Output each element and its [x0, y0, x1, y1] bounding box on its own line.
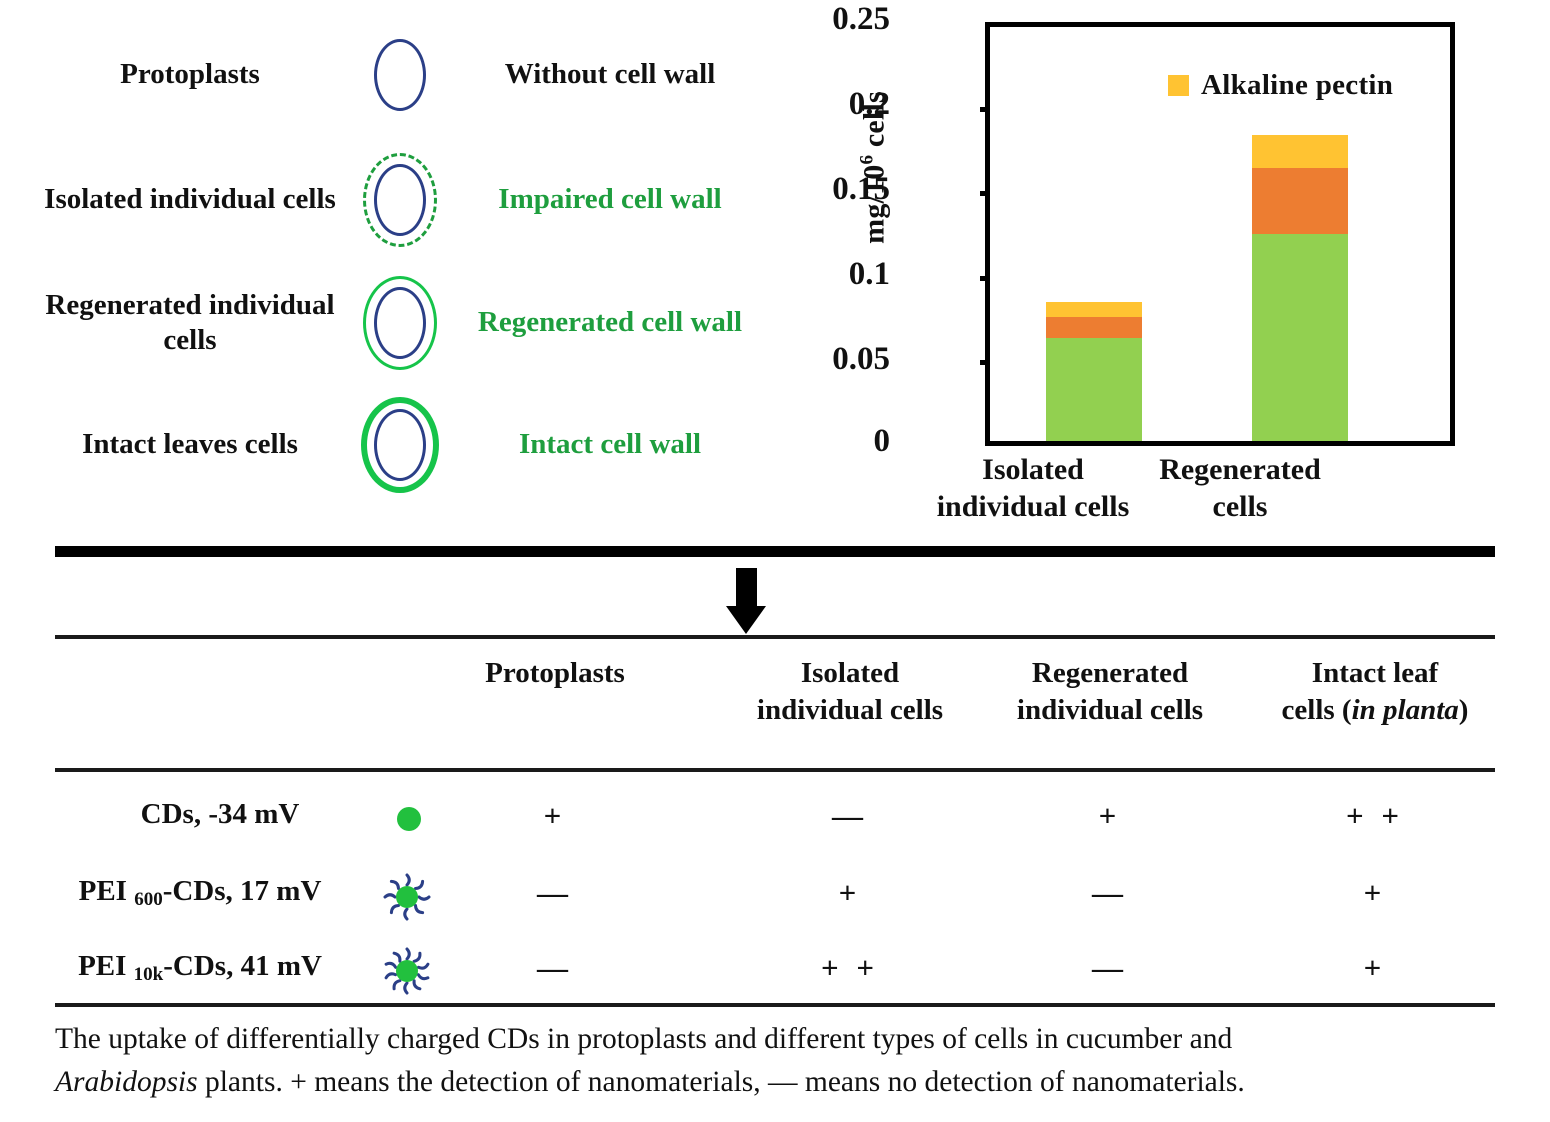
legend-row-description: Impaired cell wall [465, 145, 755, 255]
legend-row-protoplasts: Protoplasts Without cell wall [0, 20, 790, 130]
intact-wall-cell-icon [345, 390, 455, 500]
y-tick-label-0.05: 0.05 [780, 341, 890, 378]
table-cell-pei600-protoplasts: — [430, 875, 680, 911]
header-line1: Intact leaf [1312, 657, 1438, 689]
y-tick-label-0: 0 [780, 423, 890, 460]
table-cell-pei10k-regenerated: — [985, 950, 1235, 986]
table-row-label-pei10k-cds: PEI 10k-CDs, 41 mV [35, 950, 365, 983]
pei600-cd-nanoparticle-icon [378, 871, 438, 923]
table-cell-pei600-regenerated: — [985, 875, 1235, 911]
header-line1: Protoplasts [485, 657, 625, 689]
table-top-rule [55, 635, 1495, 639]
plasma-membrane-ellipse [374, 164, 426, 236]
header-line1: Regenerated [1032, 657, 1188, 689]
table-header-regenerated-individual-cells: Regenerated individual cells [985, 655, 1235, 728]
header-line2-plain: cells ( [1282, 694, 1352, 726]
legend-row-label: Protoplasts [40, 20, 340, 130]
y-tick-label-0.15: 0.15 [780, 171, 890, 208]
x-category-line1: Isolated [982, 453, 1084, 486]
table-cell-pei600-intact-leaf: + [1250, 875, 1500, 911]
bar-segment-green [1252, 234, 1348, 441]
table-cell-pei10k-protoplasts: — [430, 950, 680, 986]
table-cell-cds-intact-leaf: + + [1250, 798, 1500, 834]
chart-plot-area: Alkaline pectin [985, 22, 1455, 446]
x-category-line1: Regenerated [1159, 453, 1321, 486]
table-header-intact-leaf-cells: Intact leaf cells (in planta) [1250, 655, 1500, 728]
header-line2-italic: in planta [1352, 694, 1459, 726]
section-divider-thick-rule [55, 546, 1495, 557]
legend-row-description: Intact cell wall [465, 390, 755, 500]
table-cell-pei10k-intact-leaf: + [1250, 950, 1500, 986]
plasma-membrane-ellipse [374, 409, 426, 481]
table-bottom-rule [55, 1003, 1495, 1007]
table-cell-pei600-isolated: + [725, 875, 975, 911]
figure-caption: The uptake of differentially charged CDs… [55, 1018, 1500, 1104]
legend-row-label: Regenerated individual cells [40, 268, 340, 378]
table-cell-cds-isolated: — [725, 798, 975, 834]
header-line2-post: ) [1459, 694, 1469, 726]
x-category-line2: cells [1213, 490, 1268, 523]
pectin-content-bar-chart: mg/106 cells 0.25 0.2 0.15 0.1 0.05 0 Al… [830, 0, 1550, 540]
bar-regenerated-cells [1252, 135, 1348, 441]
caption-line1: The uptake of differentially charged CDs… [55, 1023, 1232, 1055]
table-row-label-cds: CDs, -34 mV [55, 798, 385, 831]
y-tick-label-0.25: 0.25 [780, 1, 890, 38]
legend-row-intact-leaves-cells: Intact leaves cells Intact cell wall [0, 390, 790, 500]
uptake-summary-table: Protoplasts Isolated individual cells Re… [0, 635, 1550, 1015]
table-cell-cds-protoplasts: + [430, 798, 680, 834]
pei10k-cd-nanoparticle-icon [378, 945, 438, 997]
table-header-rule [55, 768, 1495, 772]
cell-type-legend-panel: Protoplasts Without cell wall Isolated i… [0, 0, 800, 520]
figure-canvas: Protoplasts Without cell wall Isolated i… [0, 0, 1550, 1122]
legend-row-description: Without cell wall [465, 20, 755, 130]
table-cell-cds-regenerated: + [985, 798, 1235, 834]
impaired-wall-cell-icon [345, 145, 455, 255]
legend-row-label: Isolated individual cells [40, 145, 340, 255]
regenerated-wall-cell-icon [345, 268, 455, 378]
bar-segment-orange [1046, 317, 1142, 339]
y-tick-label-0.2: 0.2 [780, 86, 890, 123]
table-header-isolated-individual-cells: Isolated individual cells [725, 655, 975, 728]
alkaline-pectin-legend-label: Alkaline pectin [1201, 69, 1393, 102]
table-header-protoplasts: Protoplasts [430, 655, 680, 692]
x-category-regenerated-cells: Regenerated cells [1115, 452, 1365, 525]
plasma-membrane-ellipse [374, 287, 426, 359]
protoplast-cell-icon [345, 20, 455, 130]
table-row-label-pei600-cds: PEI 600-CDs, 17 mV [35, 875, 365, 908]
bar-segment-alkaline-pectin [1252, 135, 1348, 168]
x-category-line2: individual cells [937, 490, 1130, 523]
header-line2: individual cells [1017, 694, 1203, 726]
y-tick-label-0.1: 0.1 [780, 256, 890, 293]
legend-row-regenerated-individual-cells: Regenerated individual cells Regenerated… [0, 268, 790, 378]
bar-segment-alkaline-pectin [1046, 302, 1142, 317]
bar-segment-green [1046, 338, 1142, 441]
bar-isolated-individual-cells [1046, 302, 1142, 441]
legend-row-isolated-individual-cells: Isolated individual cells Impaired cell … [0, 145, 790, 255]
caption-species-italic: Arabidopsis [55, 1066, 198, 1098]
y-axis-label-exponent: 6 [857, 155, 878, 165]
down-arrow-icon [714, 568, 778, 634]
legend-row-description: Regenerated cell wall [465, 268, 755, 378]
header-line1: Isolated [801, 657, 899, 689]
plasma-membrane-ellipse [374, 39, 426, 111]
table-cell-pei10k-isolated: + + [725, 950, 975, 986]
chart-legend: Alkaline pectin [1168, 69, 1393, 102]
legend-row-label: Intact leaves cells [40, 390, 340, 500]
header-line2: individual cells [757, 694, 943, 726]
caption-line2: plants. + means the detection of nanomat… [198, 1066, 1245, 1098]
bar-segment-orange [1252, 168, 1348, 234]
alkaline-pectin-legend-swatch [1168, 75, 1189, 96]
